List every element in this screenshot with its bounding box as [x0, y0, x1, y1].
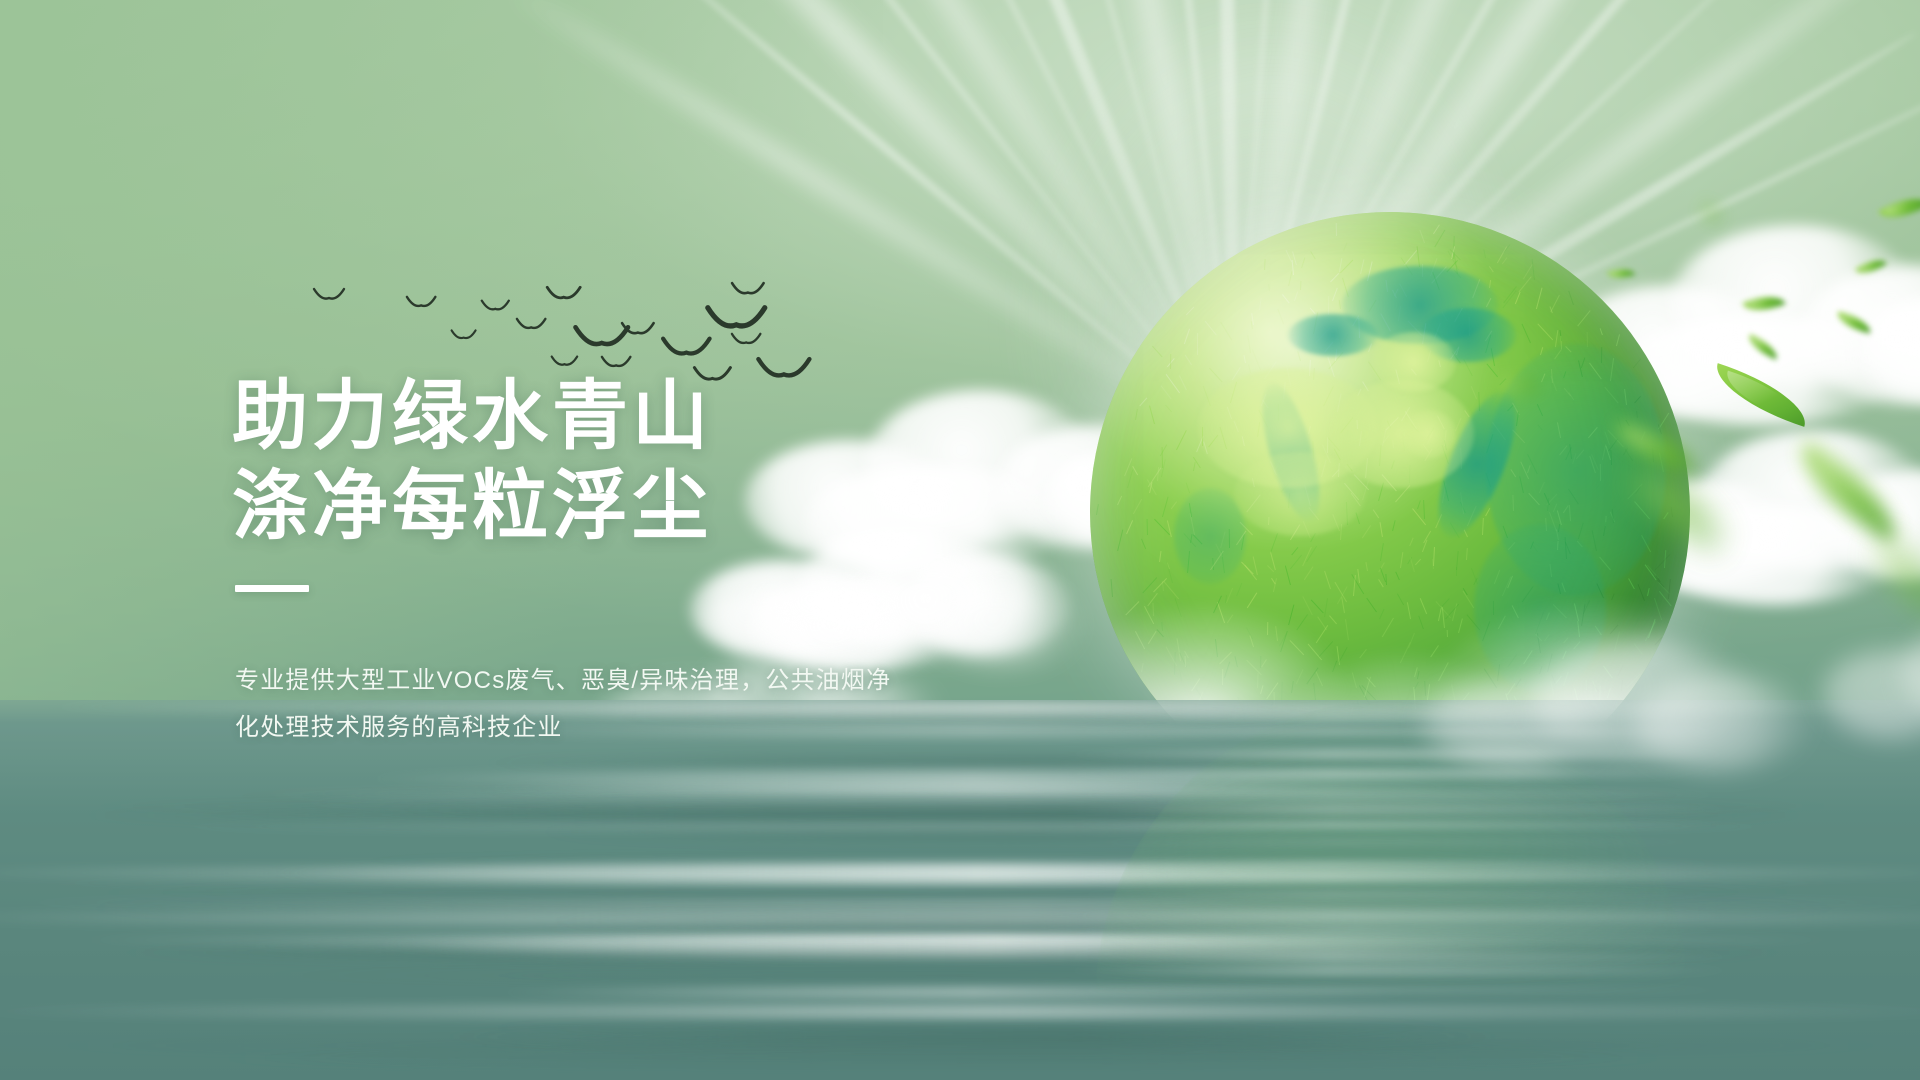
subtitle-line-2: 化处理技术服务的高科技企业	[235, 705, 895, 752]
hero-subtitle: 专业提供大型工业VOCs废气、恶臭/异味治理，公共油烟净 化处理技术服务的高科技…	[235, 658, 895, 752]
headline-line-2: 涤净每粒浮尘	[232, 462, 992, 552]
subtitle-line-1: 专业提供大型工业VOCs废气、恶臭/异味治理，公共油烟净	[235, 658, 895, 705]
title-divider	[235, 585, 309, 592]
hero-copy: 助力绿水青山 涤净每粒浮尘 专业提供大型工业VOCs废气、恶臭/异味治理，公共油…	[232, 372, 992, 752]
bird-flock	[300, 236, 740, 366]
page-title: 助力绿水青山 涤净每粒浮尘	[232, 372, 992, 551]
headline-line-1: 助力绿水青山	[232, 372, 992, 462]
hero-banner: 助力绿水青山 涤净每粒浮尘 专业提供大型工业VOCs废气、恶臭/异味治理，公共油…	[0, 0, 1920, 1080]
